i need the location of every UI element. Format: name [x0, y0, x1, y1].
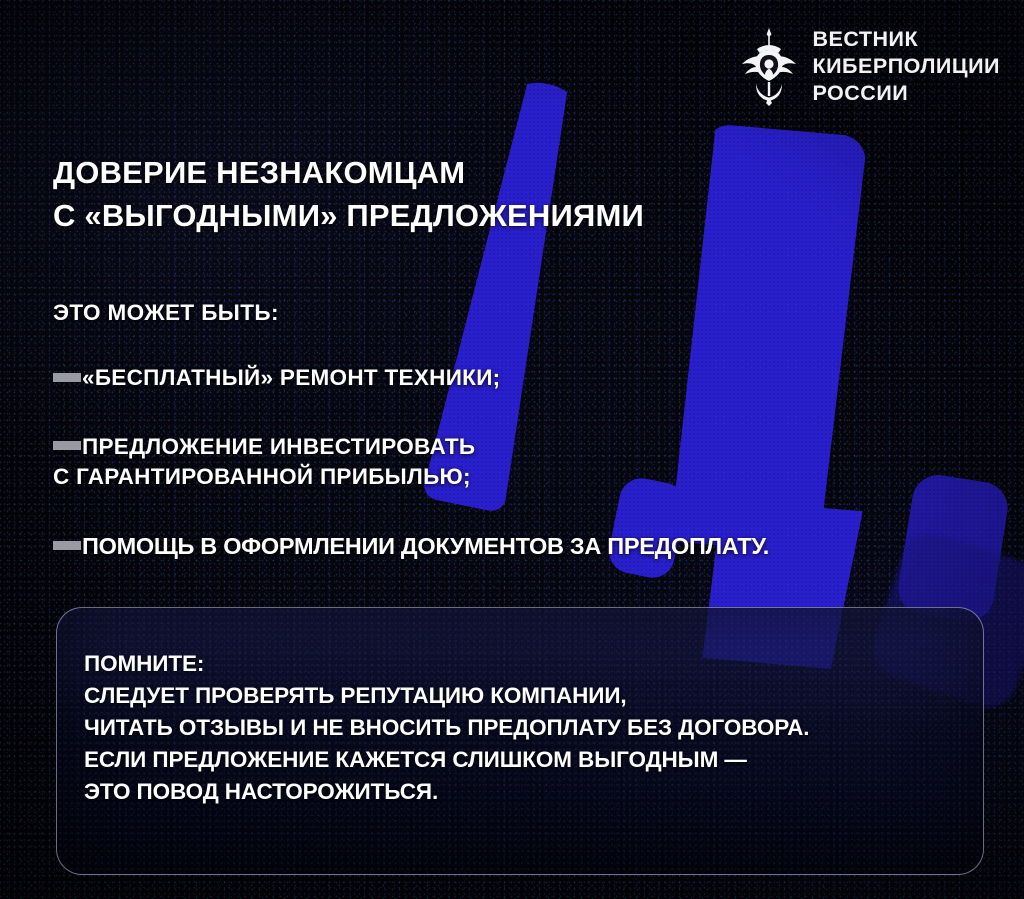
list-item-line-2: С ГАРАНТИРОВАННОЙ ПРИБЫЛЬЮ;: [53, 462, 983, 493]
list-item-line-1: «БЕСПЛАТНЫЙ» РЕМОНТ ТЕХНИКИ;: [82, 365, 500, 390]
brand-title: ВЕСТНИК КИБЕРПОЛИЦИИ РОССИИ: [812, 26, 1000, 107]
brand-title-line-3: РОССИИ: [812, 80, 1000, 107]
brand-title-line-1: ВЕСТНИК: [812, 26, 1000, 53]
list-item: ПОМОЩЬ В ОФОРМЛЕНИИ ДОКУМЕНТОВ ЗА ПРЕДОП…: [53, 531, 983, 563]
police-emblem-icon: [740, 27, 798, 107]
note-line-4: ЕСЛИ ПРЕДЛОЖЕНИЕ КАЖЕТСЯ СЛИШКОМ ВЫГОДНЫ…: [84, 744, 983, 776]
bullet-list: «БЕСПЛАТНЫЙ» РЕМОНТ ТЕХНИКИ; ПРЕДЛОЖЕНИЕ…: [53, 363, 983, 563]
intro-label: ЭТО МОЖЕТ БЫТЬ:: [53, 300, 279, 326]
dash-icon: [53, 441, 81, 450]
dash-icon: [53, 541, 81, 550]
page-title-line-1: ДОВЕРИЕ НЕЗНАКОМЦАМ: [53, 152, 644, 195]
dash-icon: [53, 373, 81, 382]
note-line-5: ЭТО ПОВОД НАСТОРОЖИТЬСЯ.: [84, 776, 983, 808]
poster-content: ДОВЕРИЕ НЕЗНАКОМЦАМ С «ВЫГОДНЫМИ» ПРЕДЛО…: [0, 0, 1024, 899]
brand-title-line-2: КИБЕРПОЛИЦИИ: [812, 53, 1000, 80]
list-item: «БЕСПЛАТНЫЙ» РЕМОНТ ТЕХНИКИ;: [53, 363, 983, 394]
list-item-line-1: ПРЕДЛОЖЕНИЕ ИНВЕСТИРОВАТЬ: [82, 434, 475, 459]
remember-note-text: ПОМНИТЕ: СЛЕДУЕТ ПРОВЕРЯТЬ РЕПУТАЦИЮ КОМ…: [57, 608, 983, 808]
note-line-3: ЧИТАТЬ ОТЗЫВЫ И НЕ ВНОСИТЬ ПРЕДОПЛАТУ БЕ…: [84, 712, 983, 744]
list-item-line-1: ПОМОЩЬ В ОФОРМЛЕНИИ ДОКУМЕНТОВ ЗА ПРЕДОП…: [82, 533, 769, 559]
brand-lockup: ВЕСТНИК КИБЕРПОЛИЦИИ РОССИИ: [740, 26, 1000, 107]
page-title: ДОВЕРИЕ НЕЗНАКОМЦАМ С «ВЫГОДНЫМИ» ПРЕДЛО…: [53, 152, 644, 238]
list-item: ПРЕДЛОЖЕНИЕ ИНВЕСТИРОВАТЬ С ГАРАНТИРОВАН…: [53, 432, 983, 493]
remember-note-box: ПОМНИТЕ: СЛЕДУЕТ ПРОВЕРЯТЬ РЕПУТАЦИЮ КОМ…: [56, 607, 984, 875]
poster-canvas: ВЕСТНИК КИБЕРПОЛИЦИИ РОССИИ ДОВЕРИЕ НЕЗН…: [0, 0, 1024, 899]
note-line-2: СЛЕДУЕТ ПРОВЕРЯТЬ РЕПУТАЦИЮ КОМПАНИИ,: [84, 680, 983, 712]
note-line-1: ПОМНИТЕ:: [84, 648, 983, 680]
page-title-line-2: С «ВЫГОДНЫМИ» ПРЕДЛОЖЕНИЯМИ: [53, 195, 644, 238]
